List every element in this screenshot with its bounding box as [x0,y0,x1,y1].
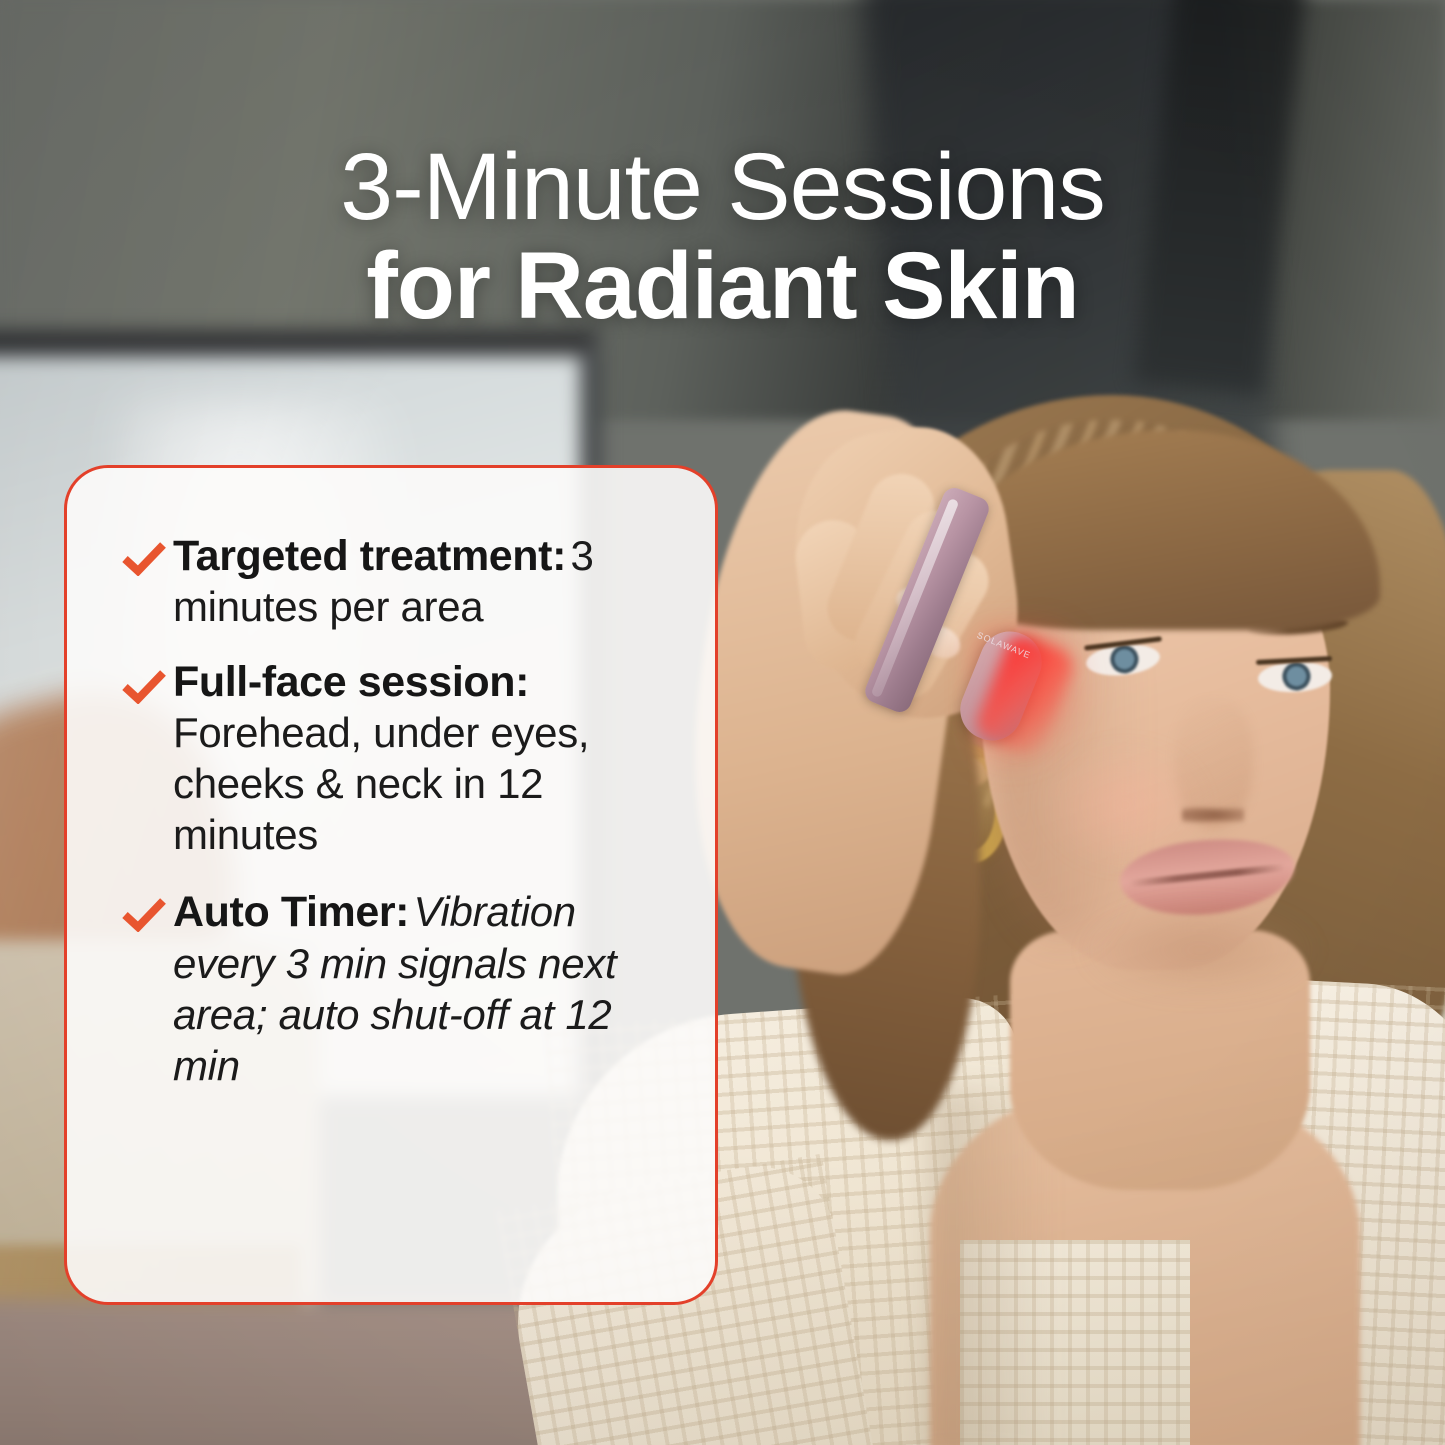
feature-item: Targeted treatment: 3 minutes per area [121,530,687,632]
feature-title: Full-face session: [173,658,529,706]
feature-text: Full-face session: Forehead, under eyes,… [173,658,687,860]
feature-item: Full-face session: Forehead, under eyes,… [121,658,687,860]
page-title: 3-Minute Sessions for Radiant Skin [0,138,1445,336]
nostrils [1182,805,1244,825]
promo-graphic: SOLAWAVE 3-Minute Sessions for Radiant S… [0,0,1445,1445]
feature-text: Targeted treatment: 3 minutes per area [173,530,687,632]
feature-description: Forehead, under eyes, cheeks & neck in 1… [173,709,589,858]
feature-title: Targeted treatment: [173,532,566,580]
feature-title: Auto Timer: [173,888,409,936]
check-icon [121,542,173,576]
feature-item: Auto Timer: Vibration every 3 min signal… [121,886,687,1091]
chin-shadow [1085,905,1315,995]
headline-line-2: for Radiant Skin [0,237,1445,336]
headline-line-1: 3-Minute Sessions [0,138,1445,237]
check-icon [121,670,173,704]
check-icon [121,898,173,932]
feature-text: Auto Timer: Vibration every 3 min signal… [173,886,687,1091]
feature-card: Targeted treatment: 3 minutes per area F… [64,465,718,1305]
